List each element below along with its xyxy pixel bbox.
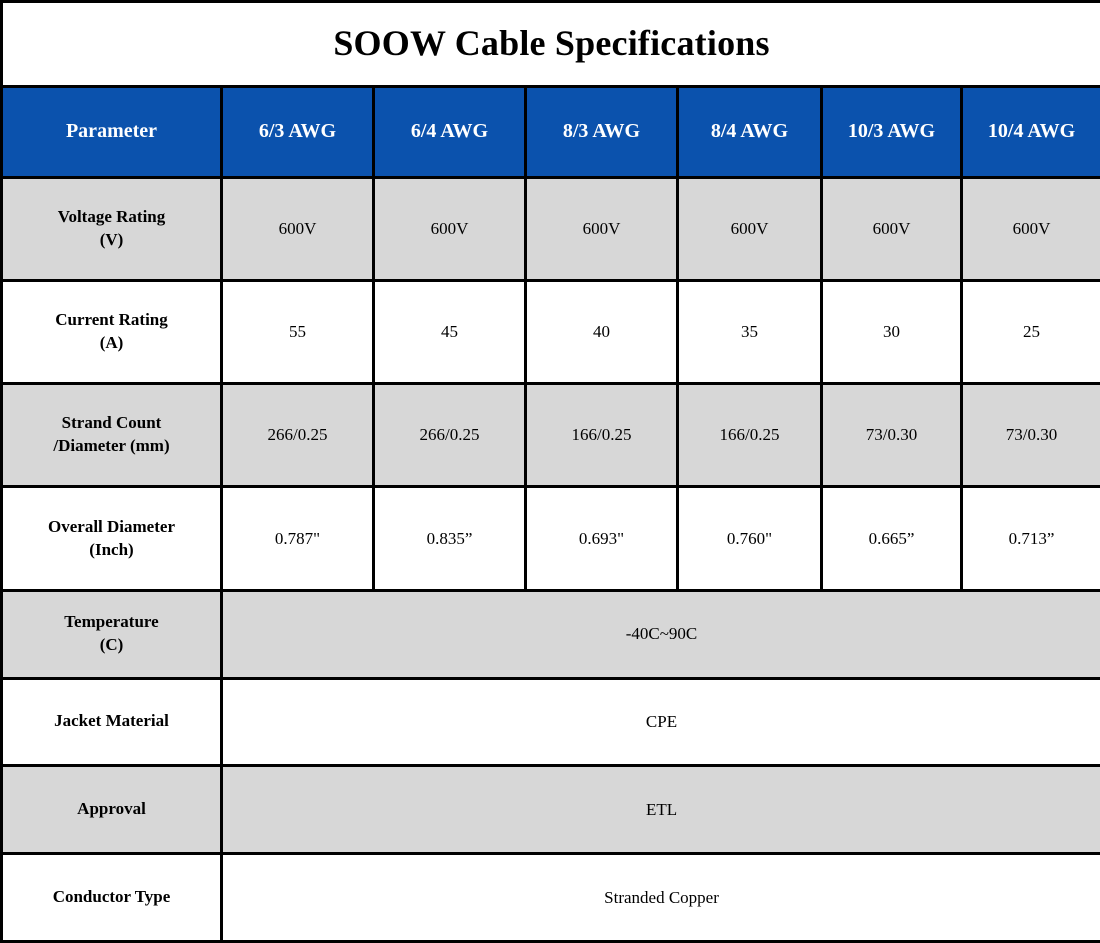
table-row: Current Rating (A) 55 45 40 35 30 25 [2, 280, 1100, 383]
row-label-line-2: (A) [7, 332, 216, 355]
table-row: Approval ETL [2, 766, 1100, 854]
row-label-line-1: Temperature [7, 611, 216, 634]
row-label-jacket-material: Jacket Material [2, 678, 222, 766]
cell-jacket-material-all: CPE [222, 678, 1100, 766]
table-row: Voltage Rating (V) 600V 600V 600V 600V 6… [2, 177, 1100, 280]
cell-current-8-4: 35 [678, 280, 822, 383]
row-label-line-2: (V) [7, 229, 216, 252]
row-label-line-1: Jacket Material [7, 710, 216, 733]
row-label-conductor-type: Conductor Type [2, 854, 222, 942]
specification-sheet: SOOW Cable Specifications Parameter 6/3 … [0, 0, 1100, 943]
column-header-10-4-awg: 10/4 AWG [962, 86, 1100, 177]
cell-current-10-3: 30 [822, 280, 962, 383]
column-header-6-4-awg: 6/4 AWG [374, 86, 526, 177]
row-label-line-1: Overall Diameter [7, 516, 216, 539]
cell-strand-8-4: 166/0.25 [678, 384, 822, 487]
row-label-line-1: Strand Count [7, 412, 216, 435]
row-label-line-1: Approval [7, 798, 216, 821]
table-row: Overall Diameter (Inch) 0.787" 0.835” 0.… [2, 487, 1100, 590]
cell-voltage-10-3: 600V [822, 177, 962, 280]
row-label-line-1: Current Rating [7, 309, 216, 332]
cell-diameter-8-3: 0.693" [526, 487, 678, 590]
cable-specifications-table: SOOW Cable Specifications Parameter 6/3 … [0, 0, 1100, 943]
cell-voltage-8-4: 600V [678, 177, 822, 280]
table-row: Jacket Material CPE [2, 678, 1100, 766]
row-label-line-1: Conductor Type [7, 886, 216, 909]
table-header-row: Parameter 6/3 AWG 6/4 AWG 8/3 AWG 8/4 AW… [2, 86, 1100, 177]
cell-approval-all: ETL [222, 766, 1100, 854]
column-header-8-4-awg: 8/4 AWG [678, 86, 822, 177]
cell-strand-6-3: 266/0.25 [222, 384, 374, 487]
column-header-10-3-awg: 10/3 AWG [822, 86, 962, 177]
cell-voltage-10-4: 600V [962, 177, 1100, 280]
row-label-approval: Approval [2, 766, 222, 854]
row-label-line-2: (C) [7, 634, 216, 657]
cell-temperature-all: -40C~90C [222, 590, 1100, 678]
cell-diameter-10-4: 0.713” [962, 487, 1100, 590]
cell-voltage-6-4: 600V [374, 177, 526, 280]
row-label-current-rating: Current Rating (A) [2, 280, 222, 383]
table-row: Conductor Type Stranded Copper [2, 854, 1100, 942]
cell-strand-10-3: 73/0.30 [822, 384, 962, 487]
cell-diameter-6-4: 0.835” [374, 487, 526, 590]
row-label-overall-diameter: Overall Diameter (Inch) [2, 487, 222, 590]
column-header-8-3-awg: 8/3 AWG [526, 86, 678, 177]
row-label-temperature: Temperature (C) [2, 590, 222, 678]
cell-diameter-6-3: 0.787" [222, 487, 374, 590]
cell-diameter-8-4: 0.760" [678, 487, 822, 590]
row-label-line-1: Voltage Rating [7, 206, 216, 229]
cell-current-10-4: 25 [962, 280, 1100, 383]
cell-current-6-3: 55 [222, 280, 374, 383]
column-header-parameter: Parameter [2, 86, 222, 177]
table-row: Temperature (C) -40C~90C [2, 590, 1100, 678]
cell-strand-10-4: 73/0.30 [962, 384, 1100, 487]
cell-voltage-8-3: 600V [526, 177, 678, 280]
cell-conductor-type-all: Stranded Copper [222, 854, 1100, 942]
title-row: SOOW Cable Specifications [2, 2, 1100, 87]
cell-diameter-10-3: 0.665” [822, 487, 962, 590]
row-label-strand-count: Strand Count /Diameter (mm) [2, 384, 222, 487]
page-title: SOOW Cable Specifications [2, 2, 1100, 87]
column-header-6-3-awg: 6/3 AWG [222, 86, 374, 177]
row-label-line-2: /Diameter (mm) [7, 435, 216, 458]
cell-current-8-3: 40 [526, 280, 678, 383]
cell-voltage-6-3: 600V [222, 177, 374, 280]
cell-strand-6-4: 266/0.25 [374, 384, 526, 487]
table-row: Strand Count /Diameter (mm) 266/0.25 266… [2, 384, 1100, 487]
cell-strand-8-3: 166/0.25 [526, 384, 678, 487]
row-label-line-2: (Inch) [7, 539, 216, 562]
row-label-voltage-rating: Voltage Rating (V) [2, 177, 222, 280]
cell-current-6-4: 45 [374, 280, 526, 383]
